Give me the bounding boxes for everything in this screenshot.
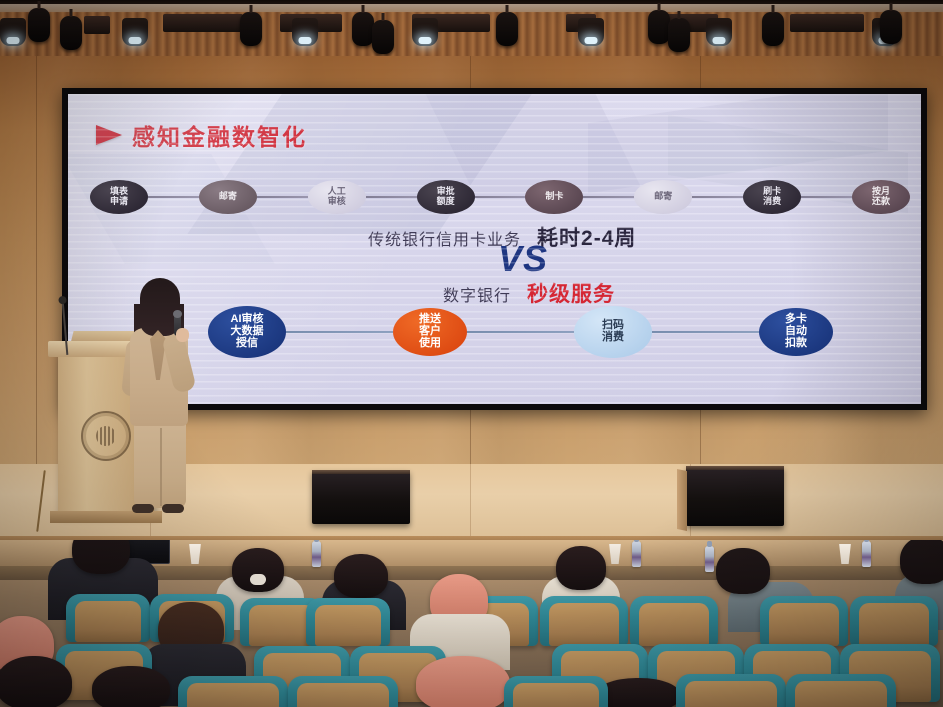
audience-member-head: [716, 548, 770, 594]
flow-node-zhika: 制卡: [525, 180, 583, 214]
hanging-spotlight-icon: [762, 12, 784, 46]
flow-node-shuaka-xiaofei: 刷卡 消费: [743, 180, 801, 214]
auditorium-seat: [630, 596, 718, 646]
seat-cushion: [297, 683, 389, 707]
seat-cushion: [187, 683, 279, 707]
presenter-leg-seam: [160, 428, 162, 506]
seat-cushion: [685, 681, 777, 707]
ceiling-light-bar: [163, 14, 243, 32]
flow-node-saoma-xiaofei: 扫码 消费: [574, 306, 652, 358]
flow-connector: [801, 196, 852, 198]
flow-connector: [652, 331, 759, 333]
hanging-spotlight-icon: [352, 12, 374, 46]
ceiling-light-bar: [84, 16, 110, 34]
auditorium-seat: [676, 674, 786, 707]
floor-seam: [470, 464, 471, 540]
flow-node-ai-shenhe: AI审核 大数据 授信: [208, 306, 286, 358]
flow-connector: [257, 196, 308, 198]
wall-seam: [36, 56, 37, 476]
stage-light-icon: [0, 18, 26, 46]
stage-light-icon: [122, 18, 148, 46]
stage-light-icon: [578, 18, 604, 46]
digital-comparison: 数字银行 秒级服务: [443, 278, 615, 308]
flow-node-duoka-koukuan: 多卡 自动 扣款: [759, 308, 833, 356]
auditorium-seat: [306, 598, 390, 646]
presenter: [124, 278, 196, 516]
stage-monitor-speaker: [312, 470, 410, 524]
auditorium-seat: [288, 676, 398, 707]
auditorium-seat: [504, 676, 608, 707]
auditorium-seat: [66, 594, 150, 642]
digital-flow-row: AI审核 大数据 授信 推送 客户 使用 扫码 消费 多卡: [208, 306, 833, 358]
seat-cushion: [639, 603, 709, 646]
stage-monitor-speaker: [686, 466, 784, 526]
seat-cushion: [769, 603, 839, 646]
presenter-shoe: [162, 504, 184, 513]
flow-connector: [583, 196, 634, 198]
digital-label: 数字银行: [443, 282, 511, 306]
stage-light-icon: [292, 18, 318, 46]
stage-light-icon: [706, 18, 732, 46]
red-triangle-arrow-icon: [96, 125, 122, 145]
hanging-spotlight-icon: [496, 12, 518, 46]
seat-cushion: [795, 681, 887, 707]
audience-member-head: [596, 678, 680, 707]
ceiling-light-bar: [790, 14, 864, 32]
flow-connector: [148, 196, 199, 198]
flow-node-rengong-shenhe: 人工 审核: [308, 180, 366, 214]
slide-title: 感知金融数智化: [132, 118, 307, 152]
seat-cushion: [75, 601, 141, 642]
hanging-spotlight-icon: [372, 20, 394, 54]
seat-cushion: [513, 683, 599, 707]
seat-cushion: [315, 605, 381, 646]
speaker-side-panel: [677, 469, 687, 531]
auditorium-seat: [786, 674, 896, 707]
audience-member-head: [900, 540, 943, 584]
audience-member-head: [416, 656, 510, 707]
seat-cushion: [549, 603, 619, 646]
flow-node-anyue-huankuan: 按月 还款: [852, 180, 910, 214]
auditorium-seat: [178, 676, 288, 707]
water-bottle: [312, 541, 321, 567]
flow-node-youji-1: 邮寄: [199, 180, 257, 214]
audience-member-head: [72, 540, 130, 574]
hair-scrunchie: [250, 574, 266, 585]
flow-connector: [475, 196, 526, 198]
audience-member-head: [232, 548, 284, 592]
flow-node-tuisong-kehu: 推送 客户 使用: [393, 308, 467, 356]
digital-duration: 秒级服务: [527, 278, 615, 308]
screenshot-root: 感知金融数智化 填表 申请 邮寄 人工 审核 审批: [0, 0, 943, 707]
flow-connector: [692, 196, 743, 198]
water-bottle: [862, 541, 871, 567]
stage-light-icon: [412, 18, 438, 46]
audience-member-head: [556, 546, 606, 590]
audience-member-head: [92, 666, 170, 707]
flow-node-shenpi-edu: 审批 额度: [417, 180, 475, 214]
flow-node-youji-2: 邮寄: [634, 180, 692, 214]
seat-cushion: [859, 603, 929, 646]
hanging-spotlight-icon: [240, 12, 262, 46]
auditorium-seat: [760, 596, 848, 646]
auditorium-seat: [540, 596, 628, 646]
ceiling: [0, 0, 943, 58]
hanging-spotlight-icon: [880, 10, 902, 44]
auditorium-seat: [850, 596, 938, 646]
audience-member-head: [334, 554, 388, 598]
versus-label: VS: [498, 238, 548, 280]
audience-member-head: [0, 656, 72, 707]
slide-title-row: 感知金融数智化: [96, 118, 307, 152]
flow-connector: [366, 196, 417, 198]
water-bottle: [705, 546, 714, 572]
presenter-shoe: [132, 504, 154, 513]
traditional-flow-row: 填表 申请 邮寄 人工 审核 审批 额度 制: [90, 180, 910, 214]
hanging-spotlight-icon: [28, 8, 50, 42]
hanging-spotlight-icon: [668, 18, 690, 52]
hanging-spotlight-icon: [60, 16, 82, 50]
flow-connector: [286, 331, 393, 333]
water-bottle: [632, 541, 641, 567]
audience-area: [0, 540, 943, 707]
traditional-duration: 耗时2-4周: [537, 222, 636, 252]
flow-node-tianbiao-shenqing: 填表 申请: [90, 180, 148, 214]
hanging-spotlight-icon: [648, 10, 670, 44]
flow-connector: [467, 331, 574, 333]
presenter-hand: [176, 328, 189, 342]
